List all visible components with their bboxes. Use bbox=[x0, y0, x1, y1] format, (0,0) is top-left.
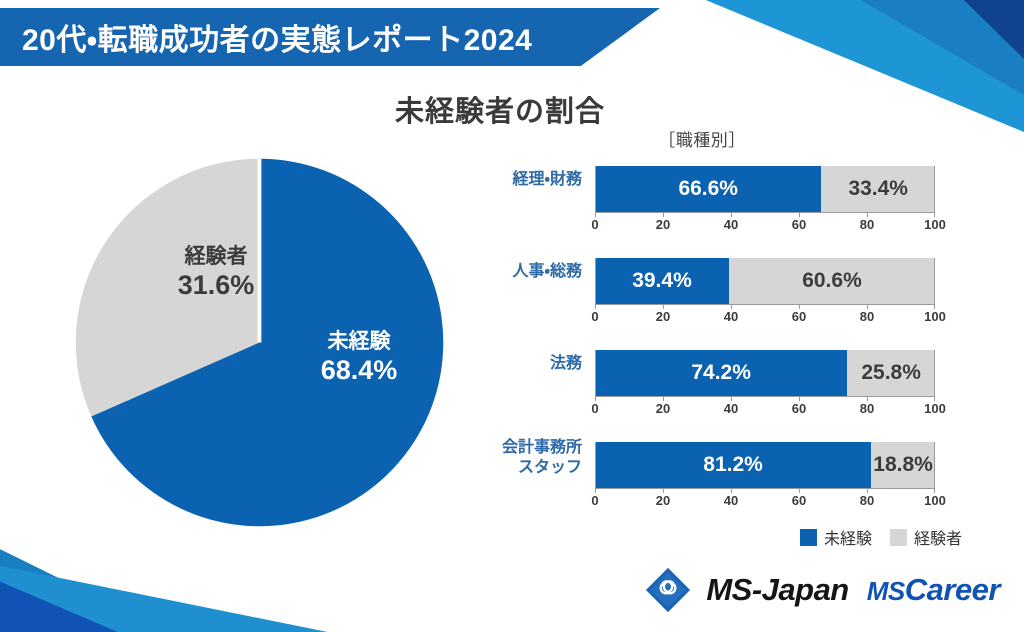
bar-segment-inexperienced: 66.6% bbox=[595, 166, 821, 212]
bar-value-inexperienced: 74.2% bbox=[691, 361, 751, 385]
bar-value-inexperienced: 39.4% bbox=[632, 269, 692, 293]
axis-tick-label: 40 bbox=[724, 217, 738, 232]
bar-row-category-line: スタッフ bbox=[462, 458, 582, 478]
page-title: 未経験者の割合 bbox=[0, 88, 1024, 130]
bar-segment-experienced: 18.8% bbox=[871, 442, 935, 488]
axis-line bbox=[595, 304, 935, 305]
bar-chart-row: 経理・財務66.6%33.4%020406080100 bbox=[462, 160, 962, 236]
axis-tick-label: 20 bbox=[656, 493, 670, 508]
bar-chart-row: 法務74.2%25.8%020406080100 bbox=[462, 344, 962, 420]
axis-line bbox=[595, 488, 935, 489]
axis-tick-label: 40 bbox=[724, 493, 738, 508]
axis-tick-label: 60 bbox=[792, 401, 806, 416]
logo-ms-career: MSCareer bbox=[867, 572, 1000, 608]
report-slide: 20代・転職成功者の実態レポート2024 未経験者の割合 経験者 31.6% 未… bbox=[0, 0, 1024, 632]
bar-chart: ［職種別］ 経理・財務66.6%33.4%020406080100人事・総務39… bbox=[462, 126, 962, 546]
axis-tick-label: 0 bbox=[591, 401, 598, 416]
chart-legend: 未経験経験者 bbox=[800, 525, 962, 549]
bar-row-category-label: 経理・財務 bbox=[462, 170, 582, 190]
bar-value-experienced: 60.6% bbox=[802, 269, 862, 293]
axis-cap-right bbox=[934, 166, 935, 212]
bar-value-experienced: 18.8% bbox=[873, 453, 933, 477]
logo-ms-career-career: Career bbox=[905, 572, 1000, 607]
bar-segment-inexperienced: 74.2% bbox=[595, 350, 847, 396]
bar-row-category-label: 会計事務所スタッフ bbox=[462, 438, 582, 478]
legend-label: 未経験 bbox=[824, 525, 872, 549]
axis-tick-label: 80 bbox=[860, 217, 874, 232]
axis-tick-label: 60 bbox=[792, 217, 806, 232]
bar-segment-inexperienced: 39.4% bbox=[595, 258, 729, 304]
bar-segment-experienced: 60.6% bbox=[729, 258, 935, 304]
bar-row-category-line: 人事・総務 bbox=[462, 262, 582, 282]
axis-cap-right bbox=[934, 442, 935, 488]
bar-value-experienced: 25.8% bbox=[861, 361, 921, 385]
bar-row-category-line: 会計事務所 bbox=[462, 438, 582, 458]
axis-tick-label: 20 bbox=[656, 309, 670, 324]
corner-decoration-bottom-left-navy bbox=[0, 512, 420, 632]
axis-tick-label: 20 bbox=[656, 217, 670, 232]
bar-row-track: 39.4%60.6% bbox=[595, 258, 935, 304]
bar-value-experienced: 33.4% bbox=[848, 177, 908, 201]
axis-tick-label: 0 bbox=[591, 309, 598, 324]
legend-item: 経験者 bbox=[890, 525, 962, 549]
bar-segment-experienced: 25.8% bbox=[847, 350, 935, 396]
bar-row-axis: 020406080100 bbox=[595, 396, 935, 418]
logo-ms-japan: MS-Japan bbox=[706, 572, 848, 608]
axis-tick-label: 100 bbox=[924, 493, 946, 508]
bar-chart-subtitle: ［職種別］ bbox=[462, 126, 942, 151]
bar-row-track: 66.6%33.4% bbox=[595, 166, 935, 212]
axis-tick-label: 80 bbox=[860, 493, 874, 508]
page-title-text: 未経験者の割合 bbox=[395, 96, 605, 128]
pie-chart-svg bbox=[72, 155, 447, 530]
bar-row-track: 81.2%18.8% bbox=[595, 442, 935, 488]
axis-line bbox=[595, 212, 935, 213]
axis-tick-label: 0 bbox=[591, 493, 598, 508]
bar-row-axis: 020406080100 bbox=[595, 304, 935, 326]
logo-ms-career-ms: MS bbox=[867, 576, 905, 606]
bar-row-category-line: 経理・財務 bbox=[462, 170, 582, 190]
axis-tick-label: 20 bbox=[656, 401, 670, 416]
axis-tick-label: 80 bbox=[860, 309, 874, 324]
bar-row-axis: 020406080100 bbox=[595, 488, 935, 510]
axis-tick-label: 40 bbox=[724, 401, 738, 416]
axis-tick-label: 100 bbox=[924, 217, 946, 232]
bar-segment-inexperienced: 81.2% bbox=[595, 442, 871, 488]
axis-tick-label: 0 bbox=[591, 217, 598, 232]
bar-row-category-label: 法務 bbox=[462, 354, 582, 374]
bar-value-inexperienced: 66.6% bbox=[678, 177, 738, 201]
axis-tick-label: 100 bbox=[924, 401, 946, 416]
axis-tick-label: 40 bbox=[724, 309, 738, 324]
axis-cap-right bbox=[934, 350, 935, 396]
bar-row-track: 74.2%25.8% bbox=[595, 350, 935, 396]
axis-cap-left bbox=[595, 258, 596, 304]
bar-row-category-label: 人事・総務 bbox=[462, 262, 582, 282]
axis-tick-label: 60 bbox=[792, 309, 806, 324]
report-title: 20代・転職成功者の実態レポート2024 bbox=[22, 15, 532, 59]
legend-item: 未経験 bbox=[800, 525, 872, 549]
legend-swatch bbox=[890, 529, 907, 546]
axis-line bbox=[595, 396, 935, 397]
logo-row: MS-Japan MSCareer bbox=[644, 566, 1000, 614]
legend-swatch bbox=[800, 529, 817, 546]
axis-tick-label: 80 bbox=[860, 401, 874, 416]
axis-tick-label: 60 bbox=[792, 493, 806, 508]
bar-row-axis: 020406080100 bbox=[595, 212, 935, 234]
legend-label: 経験者 bbox=[914, 525, 962, 549]
title-banner: 20代・転職成功者の実態レポート2024 bbox=[0, 8, 660, 66]
bar-segment-experienced: 33.4% bbox=[821, 166, 935, 212]
corner-decoration-bottom-left-mid bbox=[0, 514, 420, 632]
axis-tick-label: 100 bbox=[924, 309, 946, 324]
pie-chart: 経験者 31.6% 未経験 68.4% bbox=[72, 155, 452, 530]
bar-value-inexperienced: 81.2% bbox=[703, 453, 763, 477]
corner-decoration-bottom-left-light bbox=[0, 520, 420, 632]
axis-cap-left bbox=[595, 442, 596, 488]
axis-cap-right bbox=[934, 258, 935, 304]
bar-row-category-line: 法務 bbox=[462, 354, 582, 374]
bar-chart-row: 人事・総務39.4%60.6%020406080100 bbox=[462, 252, 962, 328]
axis-cap-left bbox=[595, 166, 596, 212]
ms-diamond-icon bbox=[644, 566, 692, 614]
bar-chart-row: 会計事務所スタッフ81.2%18.8%020406080100 bbox=[462, 436, 962, 512]
axis-cap-left bbox=[595, 350, 596, 396]
